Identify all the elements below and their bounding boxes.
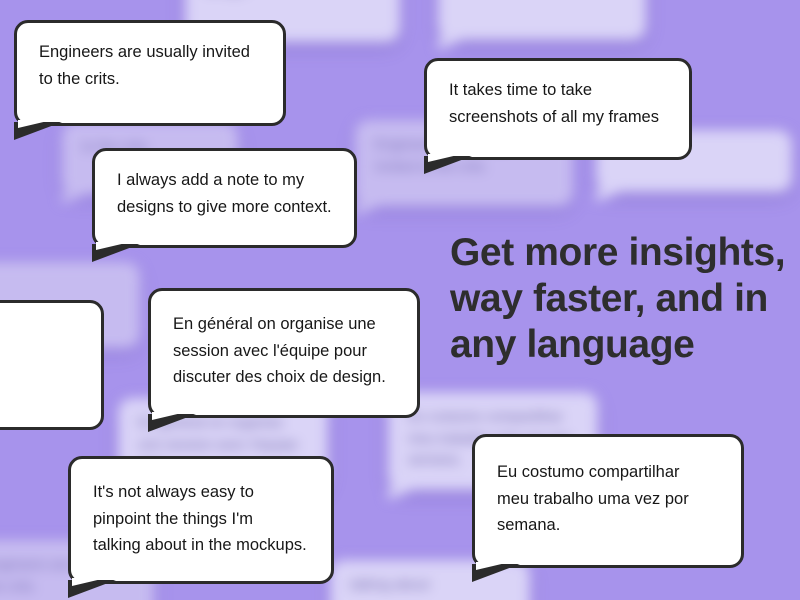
headline: Get more insights, way faster, and in an… bbox=[450, 230, 790, 368]
speech-bubble-line: to the crits. bbox=[39, 66, 261, 93]
speech-bubble-line: talking about in the mockups. bbox=[93, 532, 309, 559]
speech-bubble-tail-fill bbox=[96, 242, 130, 250]
speech-bubble-screenshots-frames: It takes time to take screenshots of all… bbox=[424, 58, 692, 160]
poster-canvas: discuter des choix de design. semana. to… bbox=[0, 0, 800, 600]
speech-bubble-line: meu trabalho uma vez por bbox=[497, 486, 719, 513]
background-bubble-text: talking about bbox=[350, 576, 429, 592]
speech-bubble-line: semana. bbox=[497, 512, 719, 539]
speech-bubble-line: screenshots of all my frames bbox=[449, 104, 667, 131]
speech-bubble-line: En général on organise une bbox=[173, 311, 395, 338]
speech-bubble-line: 'm bbox=[0, 350, 79, 377]
speech-bubble-tail bbox=[424, 156, 472, 174]
speech-bubble-line: It's not always easy to bbox=[93, 479, 309, 506]
speech-bubble-french-session: En général on organise une session avec … bbox=[148, 288, 420, 418]
speech-bubble-line: It takes time to take bbox=[449, 77, 667, 104]
background-bubble: semana. bbox=[438, 0, 646, 40]
headline-line-2: way faster, and in bbox=[450, 276, 790, 322]
speech-bubble-tail bbox=[68, 580, 116, 598]
speech-bubble-tail-fill bbox=[152, 412, 186, 420]
speech-bubble-tail-fill bbox=[428, 154, 462, 162]
speech-bubble-portuguese-semana: Eu costumo compartilhar meu trabalho uma… bbox=[472, 434, 744, 568]
speech-bubble-tail bbox=[148, 414, 196, 432]
speech-bubble-tail bbox=[92, 244, 140, 262]
speech-bubble-tail bbox=[472, 564, 520, 582]
speech-bubble-line: discuter des choix de design. bbox=[173, 364, 395, 391]
speech-bubble-tail-fill bbox=[476, 562, 510, 570]
speech-bubble-line: I always add a note to my bbox=[117, 167, 332, 194]
speech-bubble-line: designs to give more context. bbox=[117, 194, 332, 221]
speech-bubble-line: o bbox=[0, 323, 79, 350]
speech-bubble-engineers-crits: Engineers are usually invited to the cri… bbox=[14, 20, 286, 126]
speech-bubble-line: Eu costumo compartilhar bbox=[497, 459, 719, 486]
headline-line-3: any language bbox=[450, 322, 790, 368]
speech-bubble-line: Engineers are usually invited bbox=[39, 39, 261, 66]
speech-bubble-line: ockups. bbox=[0, 376, 79, 403]
speech-bubble-clipped-mockups: o 'm ockups. bbox=[0, 300, 104, 430]
headline-line-1: Get more insights, bbox=[450, 230, 790, 276]
speech-bubble-tail bbox=[14, 122, 62, 140]
speech-bubble-note-context: I always add a note to my designs to giv… bbox=[92, 148, 357, 248]
speech-bubble-tail-fill bbox=[72, 578, 106, 586]
speech-bubble-line: session avec l'équipe pour bbox=[173, 338, 395, 365]
speech-bubble-pinpoint-mockups: It's not always easy to pinpoint the thi… bbox=[68, 456, 334, 584]
speech-bubble-tail-fill bbox=[18, 120, 52, 128]
speech-bubble-line: pinpoint the things I'm bbox=[93, 506, 309, 533]
